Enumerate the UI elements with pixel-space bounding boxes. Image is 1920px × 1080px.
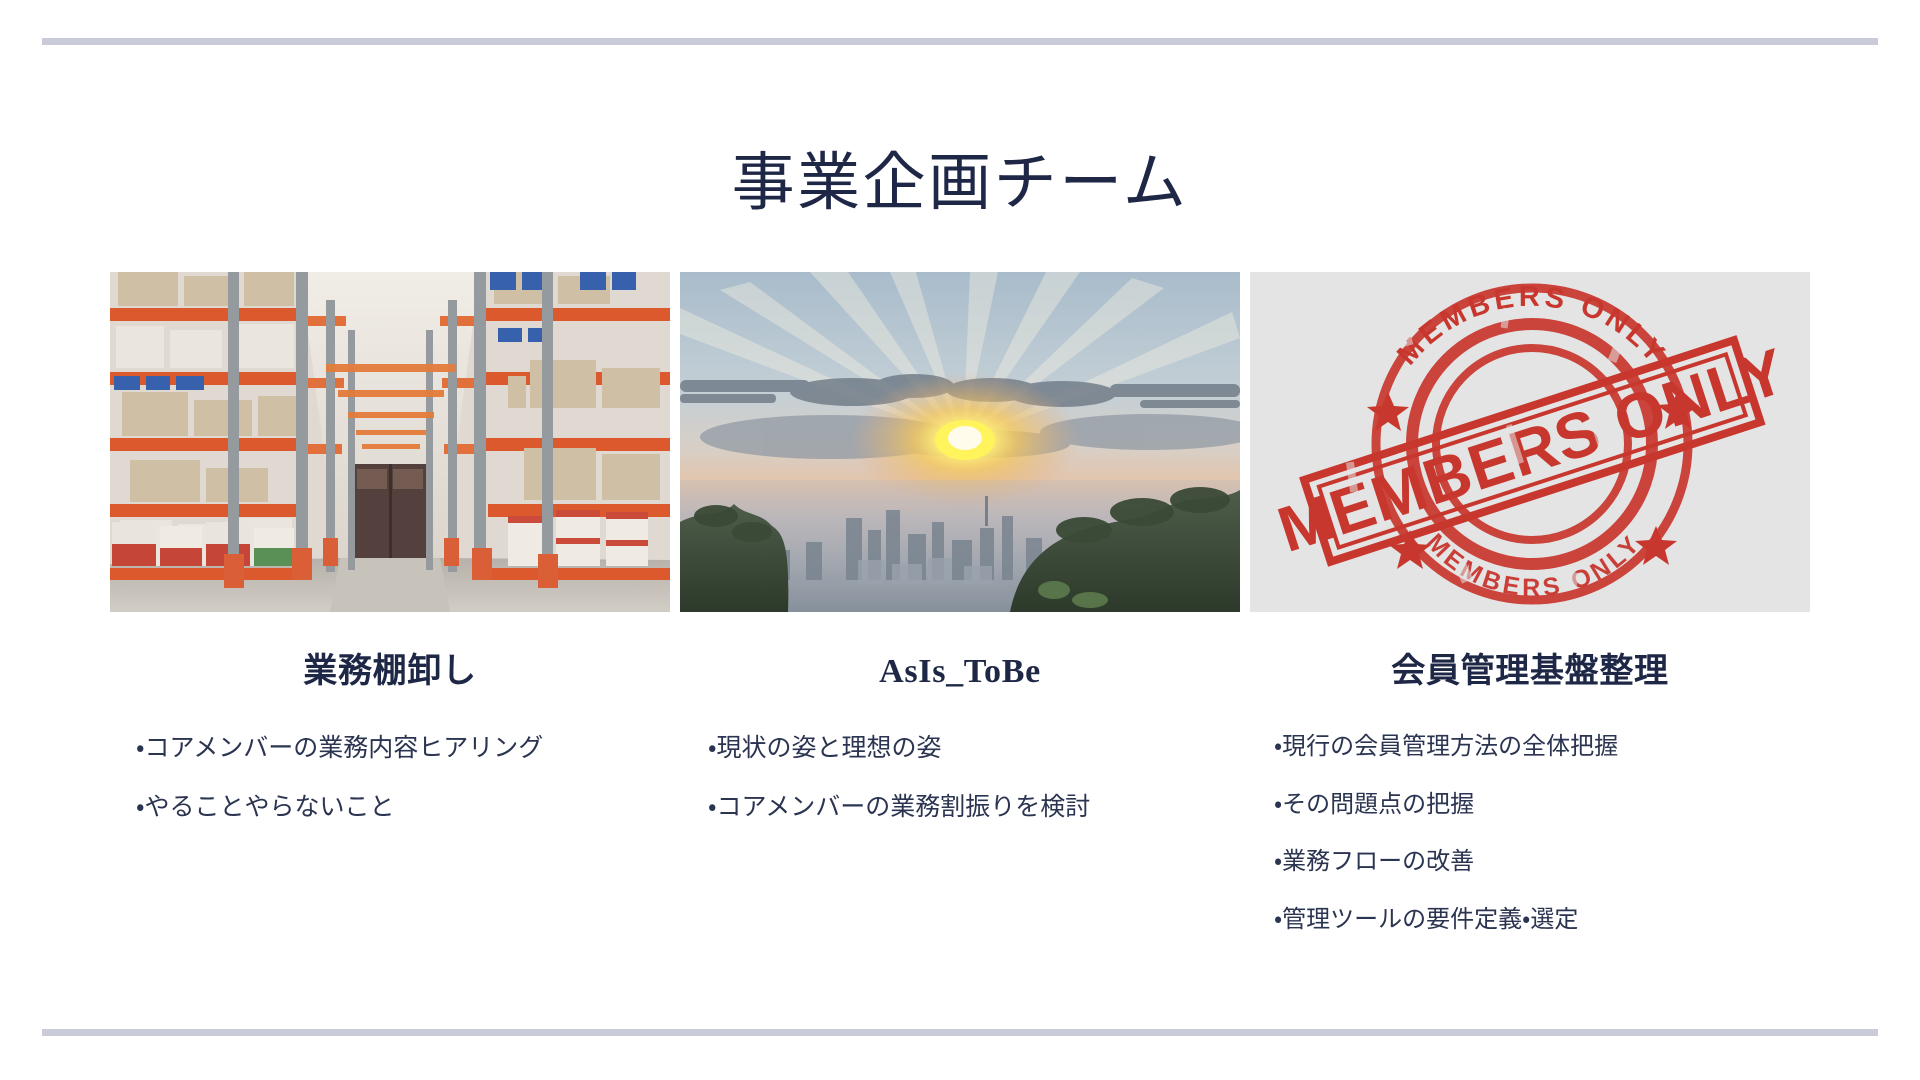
warehouse-aisle-photo [110,272,670,612]
column-member-management: MEMBERS ONLY MEMBERS ONLY [1250,272,1810,964]
bullet-list: ・コアメンバーの業務内容ヒアリング ・やることやらないこと [110,733,670,851]
list-item: ・現状の姿と理想の姿 [708,733,1240,763]
bullet-list: ・現状の姿と理想の姿 ・コアメンバーの業務割振りを検討 [680,733,1240,851]
column-business-inventory: 業務棚卸し ・コアメンバーの業務内容ヒアリング ・やることやらないこと [110,272,670,851]
list-item: ・業務フローの改善 [1274,848,1810,877]
list-item: ・コアメンバーの業務割振りを検討 [708,792,1240,822]
bullet-list: ・現行の会員管理方法の全体把握 ・その問題点の把握 ・業務フローの改善 ・管理ツ… [1250,733,1810,964]
column-heading: AsIs_ToBe [680,652,1240,693]
list-item: ・やることやらないこと [136,792,670,822]
list-item: ・コアメンバーの業務内容ヒアリング [136,733,670,763]
top-divider-rule [42,38,1878,45]
members-only-stamp-image: MEMBERS ONLY MEMBERS ONLY [1250,272,1810,612]
slide-canvas: 事業企画チーム [0,0,1920,1080]
content-columns: 業務棚卸し ・コアメンバーの業務内容ヒアリング ・やることやらないこと [110,272,1810,964]
column-asis-tobe: AsIs_ToBe ・現状の姿と理想の姿 ・コアメンバーの業務割振りを検討 [680,272,1240,851]
list-item: ・管理ツールの要件定義・選定 [1274,906,1810,935]
list-item: ・現行の会員管理方法の全体把握 [1274,733,1810,762]
list-item: ・その問題点の把握 [1274,791,1810,820]
page-title: 事業企画チーム [0,148,1920,219]
column-heading: 業務棚卸し [110,652,670,693]
sunrise-over-city-photo [680,272,1240,612]
bottom-divider-rule [42,1029,1878,1036]
column-heading: 会員管理基盤整理 [1250,652,1810,693]
